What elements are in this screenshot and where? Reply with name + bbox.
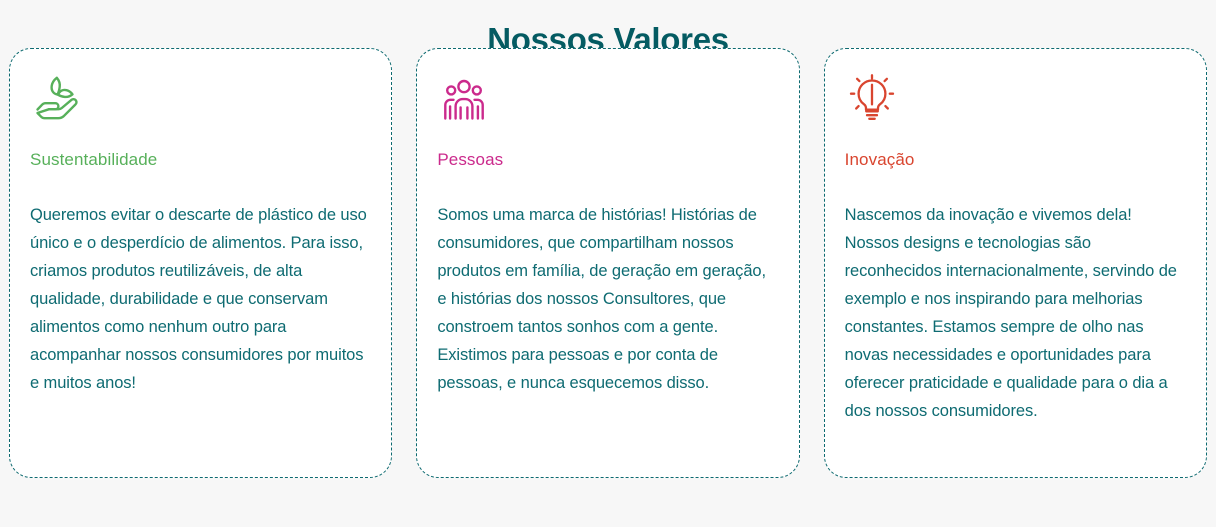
- card-body-text: Somos uma marca de histórias! Histórias …: [437, 201, 778, 397]
- card-heading: Pessoas: [437, 149, 778, 171]
- people-group-icon: [437, 73, 491, 127]
- card-body-text: Queremos evitar o descarte de plástico d…: [30, 201, 371, 397]
- values-section: Nossos Valores Sustentabilidade Queremos…: [0, 0, 1216, 527]
- hand-with-leaf-icon: [30, 73, 84, 127]
- value-card-inovacao: Inovação Nascemos da inovação e vivemos …: [824, 48, 1207, 478]
- card-heading: Inovação: [845, 149, 1186, 171]
- values-card-list: Sustentabilidade Queremos evitar o desca…: [0, 48, 1216, 478]
- value-card-sustentabilidade: Sustentabilidade Queremos evitar o desca…: [9, 48, 392, 478]
- page-title: Nossos Valores: [0, 0, 1216, 48]
- value-card-pessoas: Pessoas Somos uma marca de histórias! Hi…: [416, 48, 799, 478]
- lightbulb-idea-icon: [845, 73, 899, 127]
- card-heading: Sustentabilidade: [30, 149, 371, 171]
- card-body-text: Nascemos da inovação e vivemos dela! Nos…: [845, 201, 1186, 425]
